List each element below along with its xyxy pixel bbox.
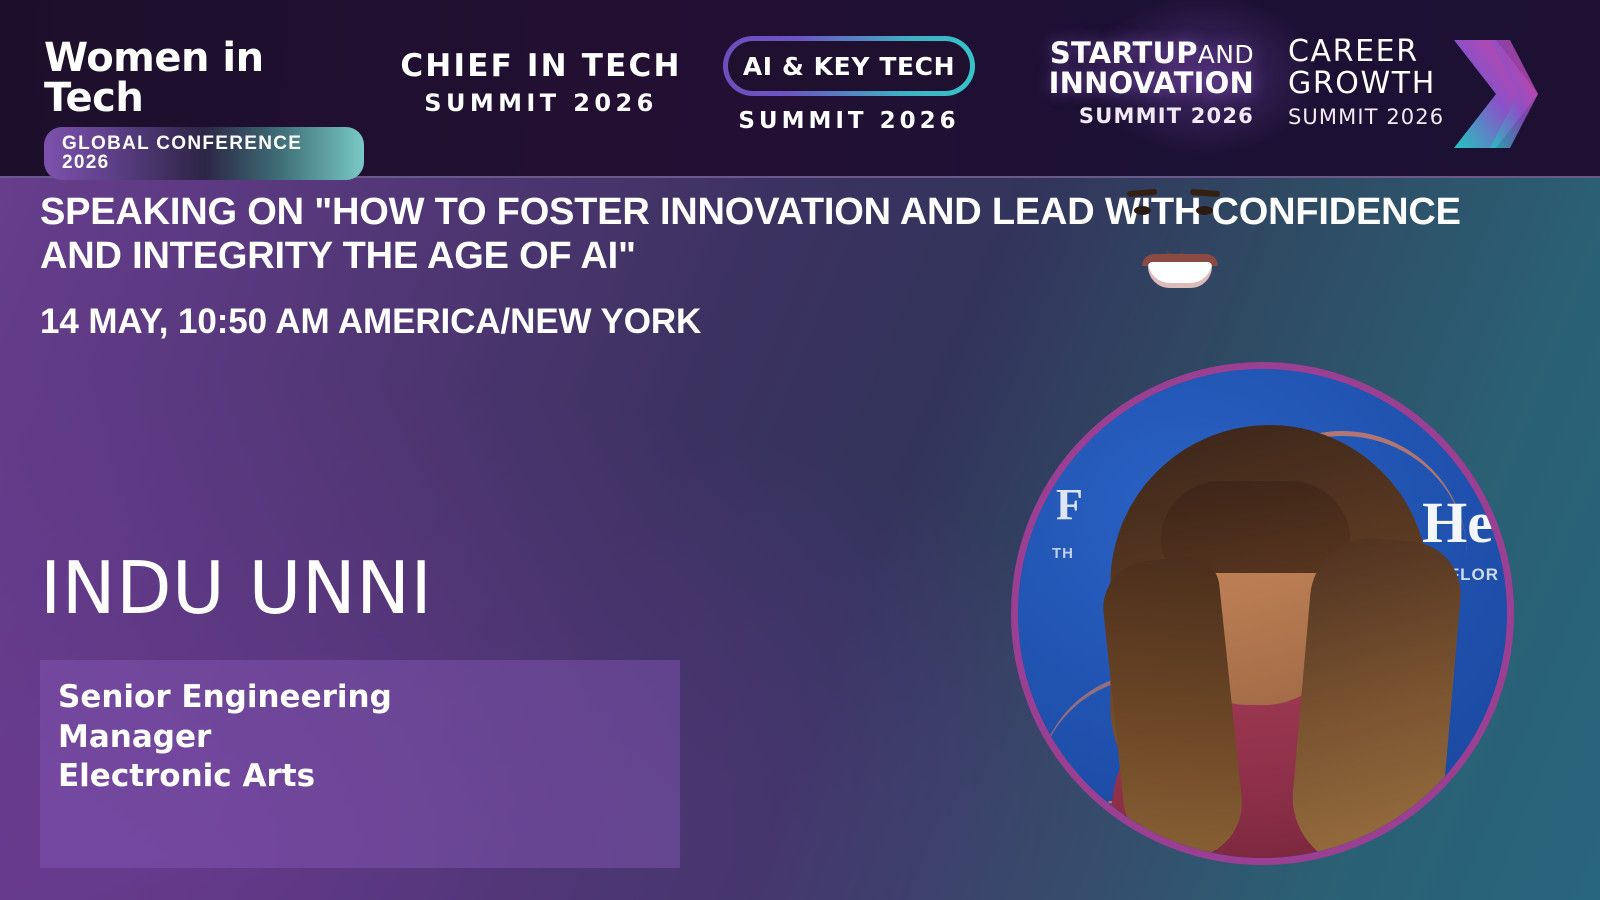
portrait-hair-right [1287, 533, 1465, 858]
akt-pill: AI & KEY TECH [723, 36, 975, 96]
logo-career-growth[interactable]: CAREER GROWTH SUMMIT 2026 [1288, 36, 1540, 129]
logo-ai-and-key-tech[interactable]: AI & KEY TECH SUMMIT 2026 [716, 36, 982, 134]
session-datetime: 14 MAY, 10:50 AM AMERICA/NEW YORK [40, 302, 701, 342]
si-title-line1: STARTUPAND [1022, 38, 1254, 68]
conference-logo-bar: Women in Tech GLOBAL CONFERENCE 2026 CHI… [0, 0, 1600, 178]
speaker-company: Electronic Arts [58, 757, 680, 797]
speaker-portrait: He Y OF FLOR F TH UF [1011, 362, 1514, 865]
portrait-smile [1148, 262, 1212, 288]
speaker-announcement-card: Women in Tech GLOBAL CONFERENCE 2026 CHI… [0, 0, 1600, 900]
portrait-eye-left [1134, 206, 1151, 215]
si-title-line2: INNOVATION [1022, 68, 1254, 98]
portrait-image: He Y OF FLOR F TH UF [1018, 369, 1507, 858]
logo-chief-in-tech[interactable]: CHIEF IN TECH SUMMIT 2026 [396, 50, 686, 115]
akt-subtitle: SUMMIT 2026 [716, 108, 982, 134]
backdrop-brand-main: He [1422, 489, 1493, 556]
cit-subtitle: SUMMIT 2026 [396, 91, 686, 115]
portrait-eye-right [1196, 206, 1213, 215]
speaker-title-line2: Manager [58, 718, 680, 758]
si-and: AND [1198, 40, 1254, 69]
wit-title: Women in Tech [44, 38, 364, 118]
akt-title: AI & KEY TECH [743, 54, 955, 79]
si-startup: STARTUP [1050, 36, 1198, 70]
logo-startup-and-innovation[interactable]: STARTUPAND INNOVATION SUMMIT 2026 [1022, 38, 1254, 128]
speaker-name: INDU UNNI [40, 552, 432, 624]
wit-badge: GLOBAL CONFERENCE 2026 [44, 127, 364, 180]
speaker-details-panel: Senior Engineering Manager Electronic Ar… [40, 660, 680, 868]
si-subtitle: SUMMIT 2026 [1022, 104, 1254, 128]
logo-women-in-tech[interactable]: Women in Tech GLOBAL CONFERENCE 2026 [44, 38, 364, 180]
backdrop-brand-left: F [1056, 479, 1083, 530]
speaker-title-line1: Senior Engineering [58, 678, 680, 718]
double-chevron-icon [1450, 38, 1542, 150]
backdrop-brand-left-sub: TH [1052, 545, 1074, 562]
cit-title: CHIEF IN TECH [396, 50, 686, 83]
session-headline: SPEAKING ON "HOW TO FOSTER INNOVATION AN… [40, 190, 1500, 278]
akt-pill-inner: AI & KEY TECH [728, 41, 970, 91]
